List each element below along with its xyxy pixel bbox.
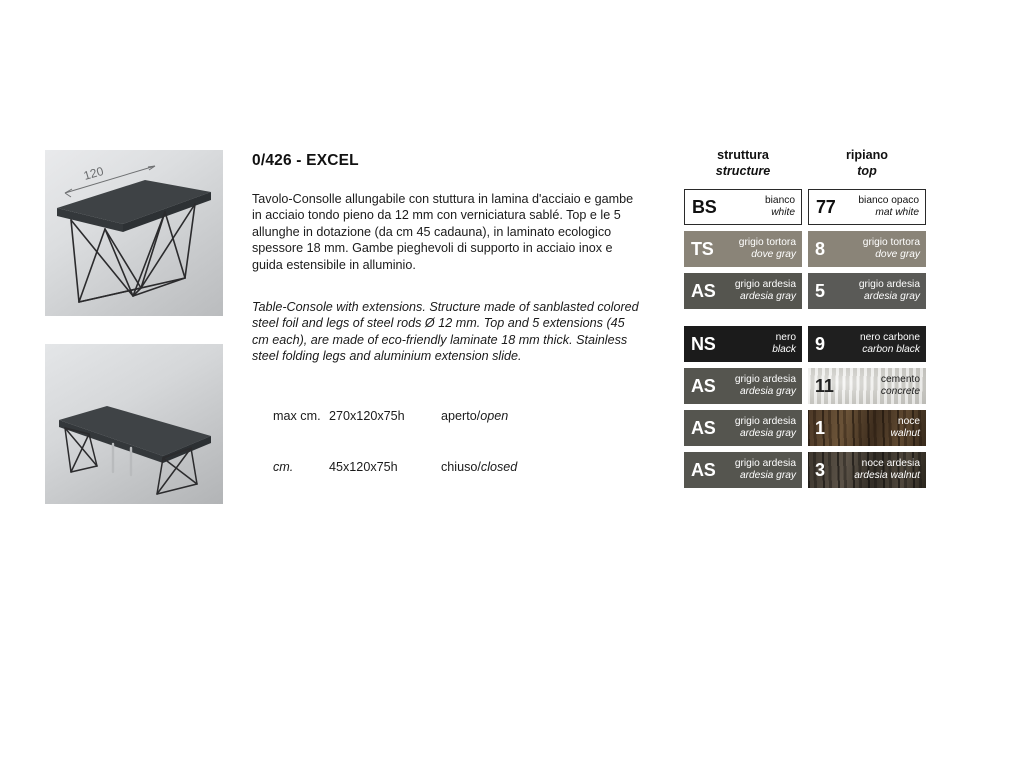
finish-name-it: grigio ardesia: [735, 279, 796, 291]
page-title: 0/426 - EXCEL: [252, 152, 644, 169]
product-description-column: 0/426 - EXCEL Tavolo-Consolle allungabil…: [252, 152, 644, 493]
finish-names: nero carbonecarbon black: [860, 332, 926, 356]
finish-code: 77: [809, 198, 836, 216]
finish-row: ASgrigio ardesiaardesia gray3noce ardesi…: [684, 452, 926, 488]
finish-chip-top-5[interactable]: 5grigio ardesiaardesia gray: [808, 273, 926, 309]
finish-name-en: mat white: [858, 207, 919, 219]
finish-chip-top-9[interactable]: 9nero carbonecarbon black: [808, 326, 926, 362]
finish-code: 3: [808, 461, 825, 479]
finish-chip-structure-TS[interactable]: TSgrigio tortoradove gray: [684, 231, 802, 267]
finish-names: bianco opacomat white: [858, 195, 925, 219]
dimension-row: cm.45x120x75hchiuso/closed: [252, 442, 644, 493]
finish-chip-structure-AS[interactable]: ASgrigio ardesiaardesia gray: [684, 368, 802, 404]
dimension-state-en: open: [480, 409, 508, 423]
finish-name-it: bianco: [765, 195, 795, 207]
finish-code: BS: [685, 198, 717, 216]
finish-name-it: grigio ardesia: [859, 279, 920, 291]
finish-chip-top-11[interactable]: 11cementoconcrete: [808, 368, 926, 404]
dimension-state-en: closed: [481, 460, 517, 474]
finish-code: 5: [808, 282, 825, 300]
finish-name-en: ardesia gray: [735, 470, 796, 482]
dimension-value: 45x120x75h: [329, 459, 441, 476]
finish-names: noce ardesiaardesia walnut: [854, 458, 926, 482]
dimension-state-it: chiuso: [441, 460, 477, 474]
finish-name-en: dove gray: [739, 249, 796, 261]
dimension-value: 270x120x75h: [329, 408, 441, 425]
column-header-top: ripiano top: [808, 148, 926, 179]
finish-row: NSneroblack9nero carbonecarbon black: [684, 326, 926, 362]
finish-code: 9: [808, 335, 825, 353]
finish-code: AS: [684, 461, 716, 479]
product-image-table-open: [45, 344, 223, 504]
finish-name-it: noce: [891, 416, 920, 428]
finish-names: neroblack: [772, 332, 802, 356]
finish-chip-structure-AS[interactable]: ASgrigio ardesiaardesia gray: [684, 452, 802, 488]
finish-chip-structure-BS[interactable]: BSbiancowhite: [684, 189, 802, 225]
finish-names: grigio tortoradove gray: [739, 237, 802, 261]
finish-name-en: black: [772, 344, 796, 356]
column-header-structure: struttura structure: [684, 148, 802, 179]
dimension-state-it: aperto: [441, 409, 477, 423]
finish-name-en: dove gray: [863, 249, 920, 261]
finish-name-it: grigio ardesia: [735, 416, 796, 428]
finish-chip-structure-AS[interactable]: ASgrigio ardesiaardesia gray: [684, 273, 802, 309]
finish-names: grigio ardesiaardesia gray: [735, 279, 802, 303]
finish-code: AS: [684, 419, 716, 437]
finish-chip-top-1[interactable]: 1nocewalnut: [808, 410, 926, 446]
finish-table-header: struttura structure ripiano top: [684, 148, 926, 179]
finish-swatch-table: struttura structure ripiano top BSbianco…: [684, 148, 926, 494]
finish-name-it: grigio ardesia: [735, 458, 796, 470]
column-header-structure-en: structure: [684, 164, 802, 180]
dimension-label-120: 120: [82, 164, 105, 183]
finish-name-en: ardesia gray: [859, 291, 920, 303]
finish-names: grigio tortoradove gray: [863, 237, 926, 261]
finish-names: cementoconcrete: [881, 374, 926, 398]
finish-row: ASgrigio ardesiaardesia gray5grigio arde…: [684, 273, 926, 309]
finish-name-it: cemento: [881, 374, 920, 386]
finish-code: 8: [808, 240, 825, 258]
finish-chip-top-8[interactable]: 8grigio tortoradove gray: [808, 231, 926, 267]
finish-name-it: grigio tortora: [739, 237, 796, 249]
finish-names: biancowhite: [765, 195, 801, 219]
finish-chip-top-77[interactable]: 77bianco opacomat white: [808, 189, 926, 225]
column-header-top-en: top: [808, 164, 926, 180]
dimensions-block: max cm.270x120x75haperto/open cm.45x120x…: [252, 391, 644, 493]
finish-name-it: grigio ardesia: [735, 374, 796, 386]
finish-names: nocewalnut: [891, 416, 926, 440]
finish-row: BSbiancowhite77bianco opacomat white: [684, 189, 926, 225]
column-header-top-it: ripiano: [808, 148, 926, 164]
description-english-text: Table-Console with extensions. Structure…: [252, 299, 644, 365]
finish-names: grigio ardesiaardesia gray: [735, 374, 802, 398]
finish-name-en: concrete: [881, 386, 920, 398]
finish-swatch-body: BSbiancowhite77bianco opacomat whiteTSgr…: [684, 189, 926, 488]
finish-name-en: ardesia walnut: [854, 470, 920, 482]
finish-code: NS: [684, 335, 716, 353]
finish-row: ASgrigio ardesiaardesia gray11cementocon…: [684, 368, 926, 404]
finish-chip-structure-AS[interactable]: ASgrigio ardesiaardesia gray: [684, 410, 802, 446]
dimension-label: cm.: [273, 459, 329, 476]
finish-chip-top-3[interactable]: 3noce ardesiaardesia walnut: [808, 452, 926, 488]
finish-name-en: ardesia gray: [735, 386, 796, 398]
finish-name-en: walnut: [891, 428, 920, 440]
description-italian-text: Tavolo-Consolle allungabile con stuttura…: [252, 191, 644, 273]
finish-name-it: bianco opaco: [858, 195, 919, 207]
finish-name-it: nero: [772, 332, 796, 344]
finish-code: AS: [684, 377, 716, 395]
description-english: Table-Console with extensions. Structure…: [252, 299, 644, 365]
finish-name-it: noce ardesia: [854, 458, 920, 470]
finish-name-en: white: [765, 207, 795, 219]
finish-code: 1: [808, 419, 825, 437]
product-image-console-closed: 120: [45, 150, 223, 316]
finish-chip-structure-NS[interactable]: NSneroblack: [684, 326, 802, 362]
finish-names: grigio ardesiaardesia gray: [859, 279, 926, 303]
finish-code: TS: [684, 240, 714, 258]
finish-code: 11: [808, 377, 834, 395]
finish-names: grigio ardesiaardesia gray: [735, 416, 802, 440]
dimension-row: max cm.270x120x75haperto/open: [252, 391, 644, 442]
dimension-label: max cm.: [273, 408, 329, 425]
finish-name-en: ardesia gray: [735, 291, 796, 303]
finish-names: grigio ardesiaardesia gray: [735, 458, 802, 482]
finish-row: TSgrigio tortoradove gray8grigio tortora…: [684, 231, 926, 267]
column-header-structure-it: struttura: [684, 148, 802, 164]
finish-name-it: nero carbone: [860, 332, 920, 344]
finish-row: ASgrigio ardesiaardesia gray1nocewalnut: [684, 410, 926, 446]
finish-name-en: ardesia gray: [735, 428, 796, 440]
description-italian: Tavolo-Consolle allungabile con stuttura…: [252, 191, 644, 273]
finish-code: AS: [684, 282, 716, 300]
finish-name-it: grigio tortora: [863, 237, 920, 249]
finish-name-en: carbon black: [860, 344, 920, 356]
